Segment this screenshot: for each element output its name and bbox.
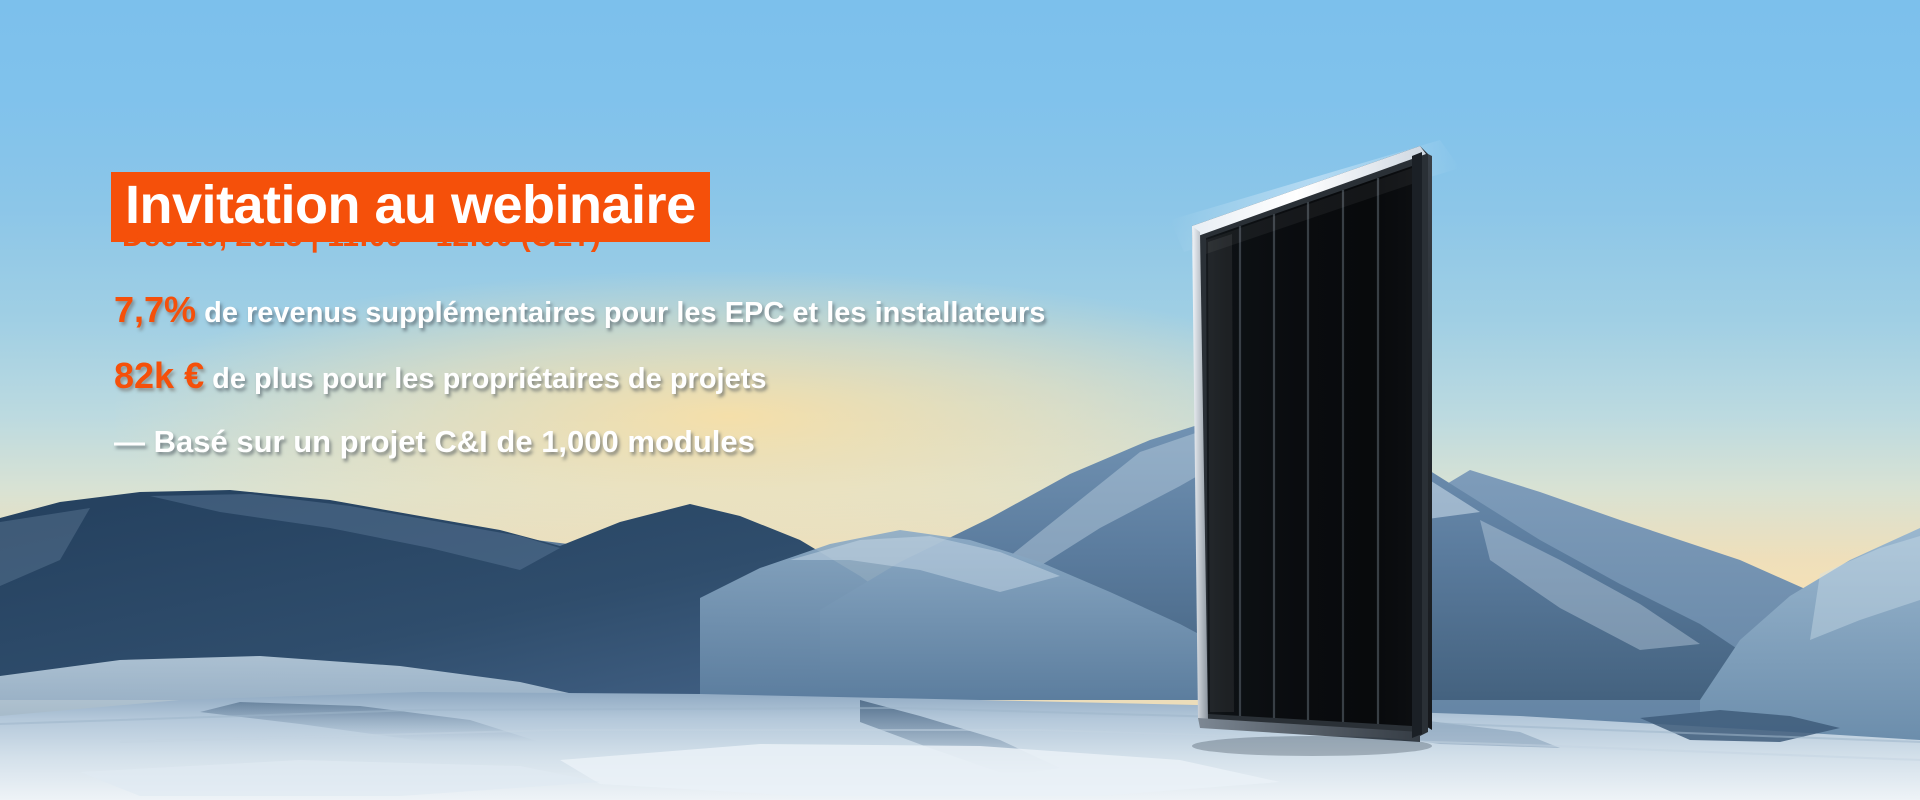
list-item: 82k € de plus pour les propriétaires de … xyxy=(114,358,1614,397)
webinar-date-time: Dec 19, 2025 | 11:00 – 12:00 (CET) xyxy=(122,220,601,254)
benefit-highlight-value: 7,7% xyxy=(114,289,196,330)
list-item-footnote: — Basé sur un projet C&I de 1,000 module… xyxy=(114,424,1614,460)
benefit-list: 7,7% de revenus supplémentaires pour les… xyxy=(114,292,1614,460)
benefit-text: de plus pour les propriétaires de projet… xyxy=(204,363,766,395)
list-item: 7,7% de revenus supplémentaires pour les… xyxy=(114,292,1614,331)
webinar-banner: Invitation au webinaire Dec 19, 2025 | 1… xyxy=(0,0,1920,800)
banner-content: Invitation au webinaire Dec 19, 2025 | 1… xyxy=(0,0,1920,800)
benefit-text: de revenus supplémentaires pour les EPC … xyxy=(196,297,1045,329)
benefit-highlight-value: 82k € xyxy=(114,355,204,396)
footnote-text: — Basé sur un projet C&I de 1,000 module… xyxy=(114,424,755,459)
